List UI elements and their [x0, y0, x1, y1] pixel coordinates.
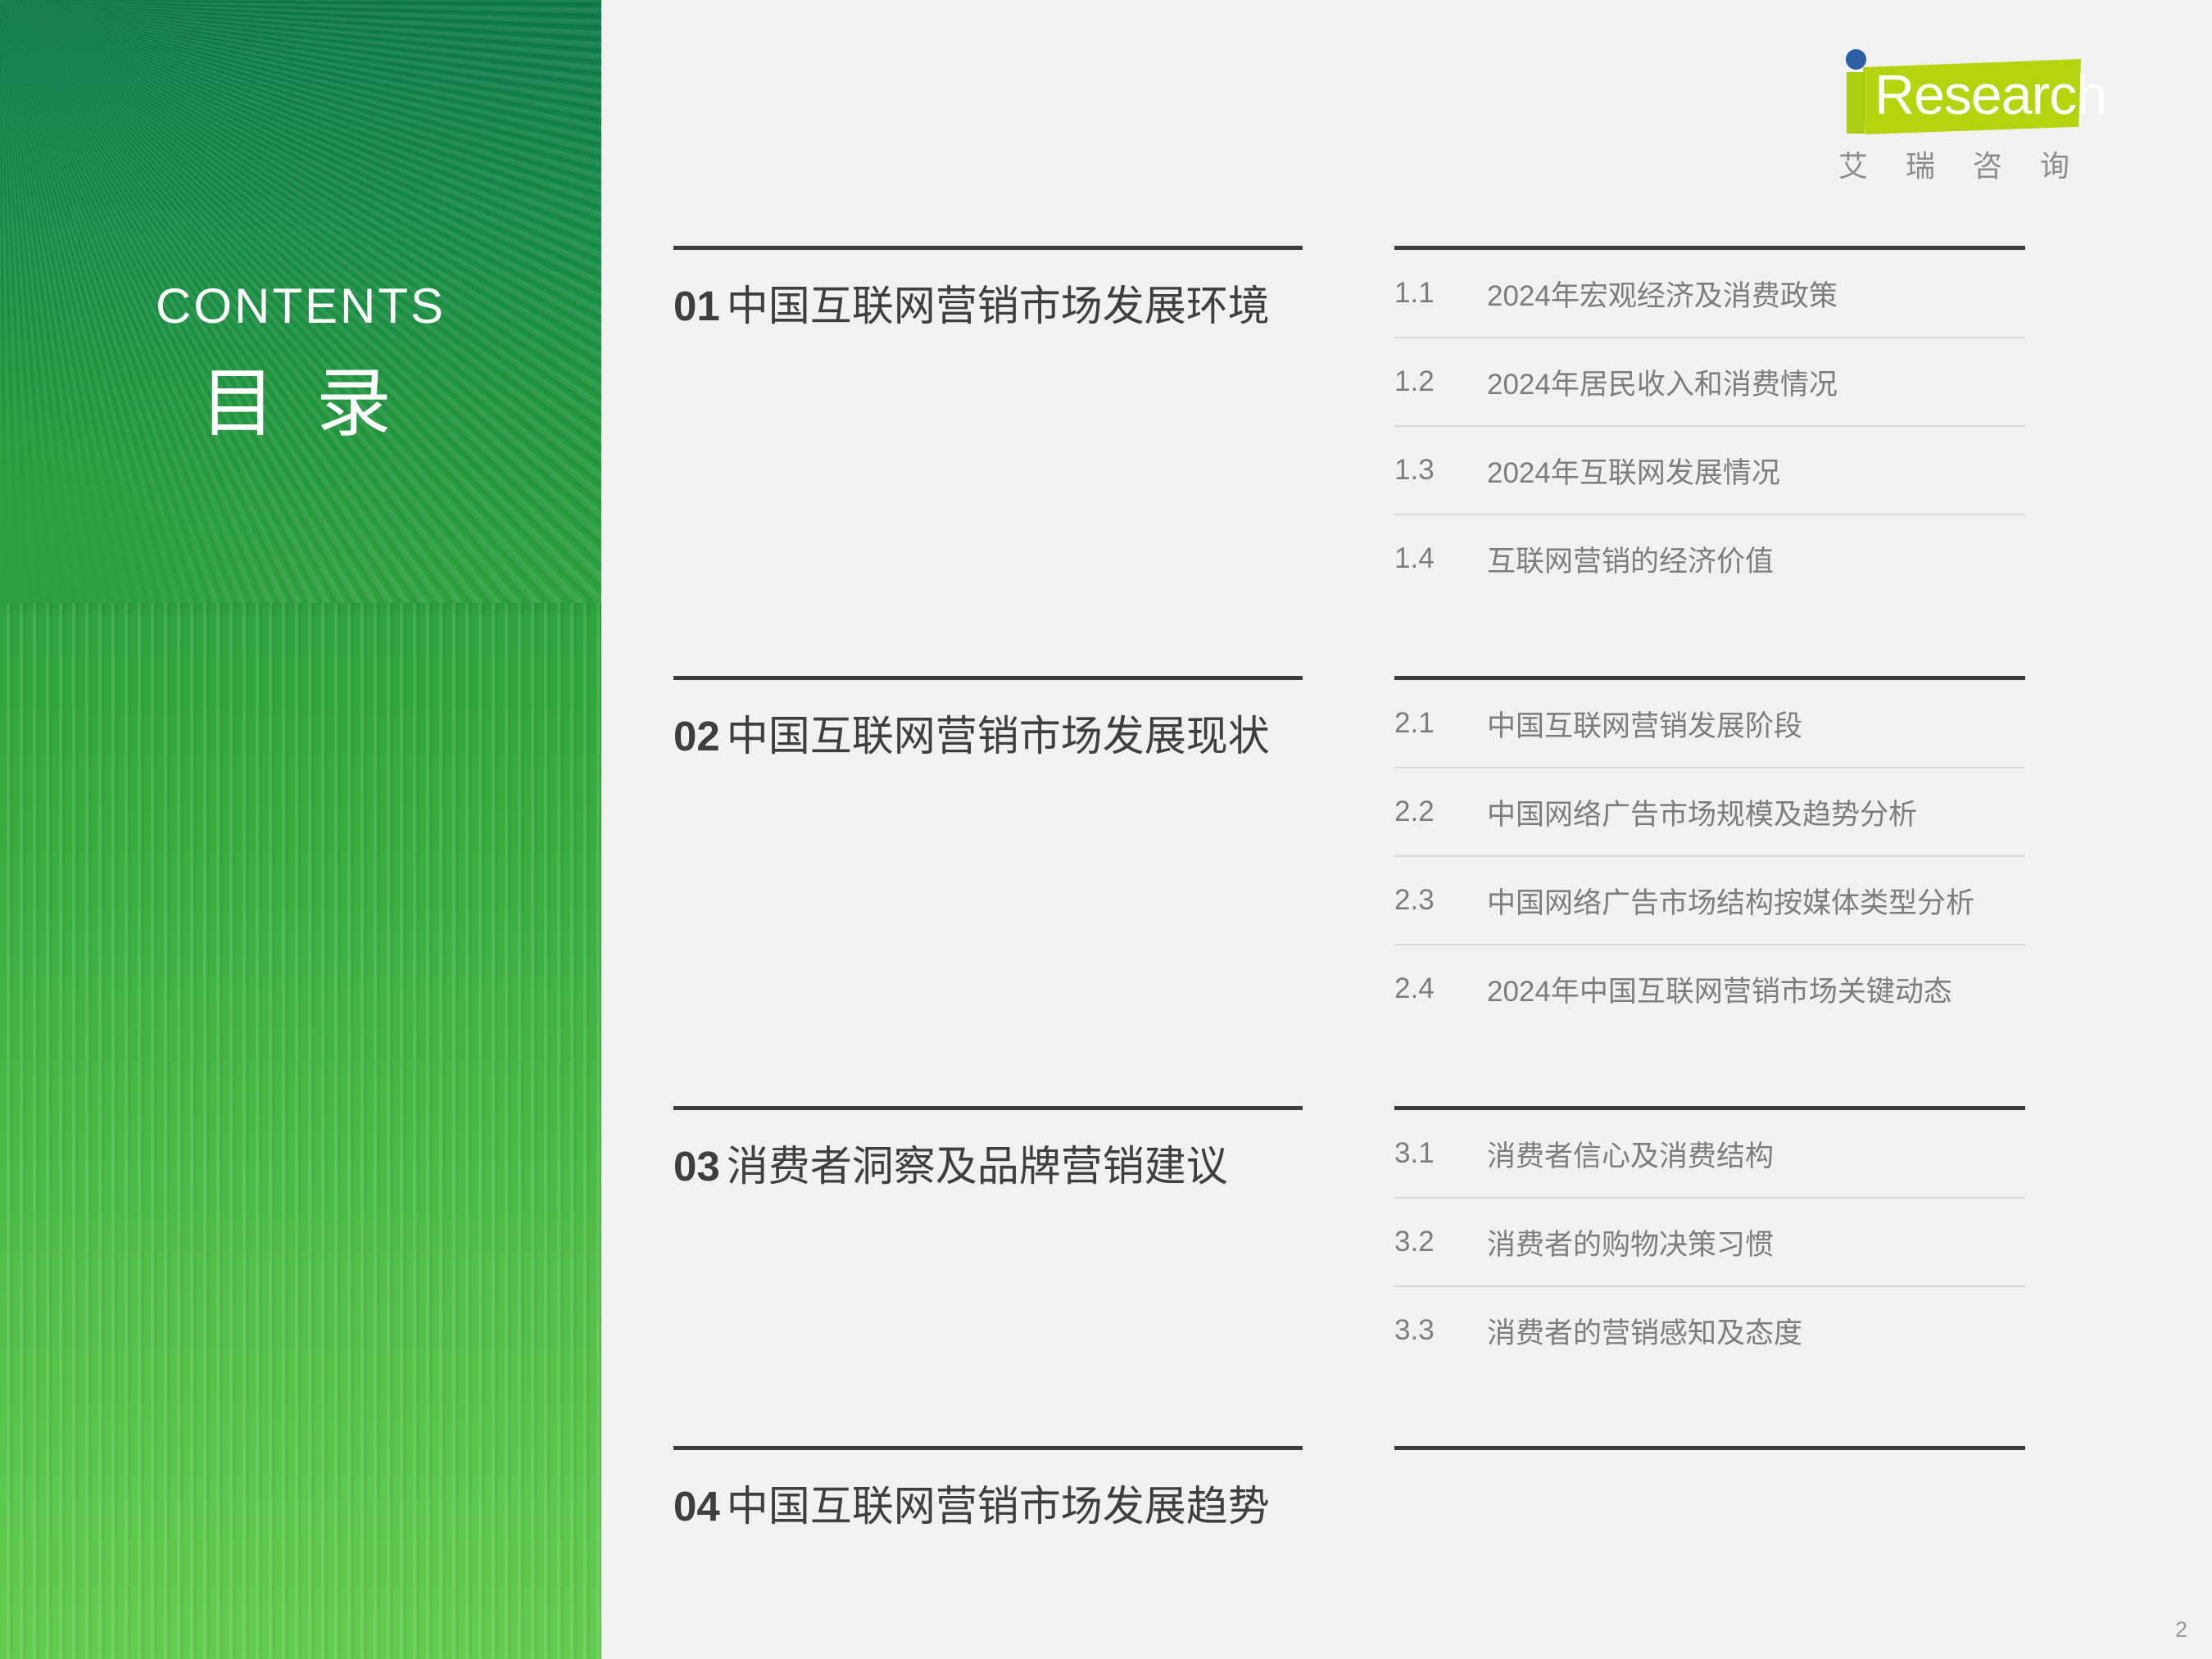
section-number: 01: [673, 283, 720, 329]
page-number: 2: [2175, 1617, 2187, 1643]
toc-sub-item[interactable]: 1.1 2024年宏观经济及消费政策: [1394, 250, 2025, 338]
vertical-stripe-pattern: [0, 603, 601, 1659]
sub-item-label: 中国网络广告市场结构按媒体类型分析: [1487, 880, 2025, 922]
sub-item-label: 互联网营销的经济价值: [1487, 538, 2025, 580]
logo-subtitle-cn: 艾 瑞 咨 询: [1832, 143, 2091, 185]
sub-item-label: 2024年中国互联网营销市场关键动态: [1487, 968, 2025, 1010]
sub-item-label: 消费者的购物决策习惯: [1487, 1222, 2025, 1263]
section-number: 03: [673, 1143, 720, 1190]
section-label: 中国互联网营销市场发展现状: [727, 713, 1270, 759]
logo-letter-i-dot-icon: [1846, 49, 1866, 70]
sub-item-number: 2.4: [1394, 972, 1487, 1005]
toc-sub-item[interactable]: 2.2 中国网络广告市场规模及趋势分析: [1394, 768, 2025, 857]
section-divider-heavy: [673, 246, 1303, 250]
contents-sidebar: CONTENTS 目 录: [0, 0, 601, 1659]
sub-item-list: 3.1 消费者信心及消费结构 3.2 消费者的购物决策习惯 3.3 消费者的营销…: [1394, 1110, 2025, 1374]
toc-sub-item[interactable]: 3.2 消费者的购物决策习惯: [1394, 1199, 2025, 1287]
logo-wordmark: Research: [1874, 67, 2106, 123]
toc-section-04-heading[interactable]: 04中国互联网营销市场发展趋势: [673, 1446, 1303, 1530]
sub-item-label: 消费者的营销感知及态度: [1487, 1310, 2025, 1352]
sub-item-number: 3.1: [1394, 1137, 1487, 1170]
toc-section-01-heading[interactable]: 01中国互联网营销市场发展环境: [673, 246, 1303, 329]
iresearch-logo: Research 艾 瑞 咨 询: [1820, 48, 2091, 187]
sub-item-number: 3.2: [1394, 1226, 1487, 1258]
logo-letter-i-stem: [1847, 72, 1865, 134]
toc-sub-item[interactable]: 3.3 消费者的营销感知及态度: [1394, 1287, 2025, 1374]
sub-item-number: 1.3: [1394, 454, 1487, 487]
toc-sub-item[interactable]: 2.1 中国互联网营销发展阶段: [1394, 680, 2025, 768]
contents-title-cn: 目 录: [0, 366, 601, 442]
toc-sub-item[interactable]: 3.1 消费者信心及消费结构: [1394, 1110, 2025, 1199]
section-divider-heavy: [1394, 1446, 2025, 1450]
section-title: 04中国互联网营销市场发展趋势: [673, 1483, 1303, 1530]
toc-section-04-items: [1394, 1446, 2025, 1450]
section-title: 03消费者洞察及品牌营销建议: [673, 1143, 1303, 1190]
section-divider-heavy: [673, 676, 1303, 680]
sub-item-label: 中国网络广告市场规模及趋势分析: [1487, 791, 2025, 833]
sub-item-number: 2.2: [1394, 796, 1487, 828]
sub-item-number: 2.3: [1394, 884, 1487, 917]
logo-mark: Research: [1820, 48, 2091, 139]
toc-section-03-heading[interactable]: 03消费者洞察及品牌营销建议: [673, 1106, 1303, 1190]
sub-item-label: 2024年宏观经济及消费政策: [1487, 273, 2025, 315]
sub-item-number: 1.2: [1394, 365, 1487, 398]
sub-item-number: 3.3: [1394, 1314, 1487, 1347]
sub-item-number: 1.4: [1394, 542, 1487, 575]
stripe-top-shadow: [0, 603, 601, 619]
section-label: 中国互联网营销市场发展环境: [727, 283, 1270, 329]
section-label: 消费者洞察及品牌营销建议: [727, 1143, 1228, 1190]
sub-item-number: 1.1: [1394, 277, 1487, 310]
sub-item-list: 1.1 2024年宏观经济及消费政策 1.2 2024年居民收入和消费情况 1.…: [1394, 250, 2025, 602]
section-number: 02: [673, 713, 720, 759]
section-title: 02中国互联网营销市场发展现状: [673, 713, 1303, 759]
sub-item-label: 消费者信心及消费结构: [1487, 1133, 2025, 1175]
toc-section-03-items: 3.1 消费者信心及消费结构 3.2 消费者的购物决策习惯 3.3 消费者的营销…: [1394, 1106, 2025, 1374]
sub-item-number: 2.1: [1394, 707, 1487, 740]
section-title: 01中国互联网营销市场发展环境: [673, 283, 1303, 329]
sub-item-label: 2024年居民收入和消费情况: [1487, 361, 2025, 403]
toc-sub-item[interactable]: 2.3 中国网络广告市场结构按媒体类型分析: [1394, 857, 2025, 945]
toc-sub-item[interactable]: 1.3 2024年互联网发展情况: [1394, 427, 2025, 515]
toc-sub-item[interactable]: 2.4 2024年中国互联网营销市场关键动态: [1394, 945, 2025, 1032]
section-number: 04: [673, 1483, 720, 1530]
sub-item-label: 中国互联网营销发展阶段: [1487, 703, 2025, 745]
toc-sub-item[interactable]: 1.2 2024年居民收入和消费情况: [1394, 338, 2025, 427]
table-of-contents: 01中国互联网营销市场发展环境 1.1 2024年宏观经济及消费政策 1.2 2…: [673, 0, 2025, 1659]
section-divider-heavy: [673, 1446, 1303, 1450]
toc-sub-item[interactable]: 1.4 互联网营销的经济价值: [1394, 515, 2025, 602]
section-divider-heavy: [673, 1106, 1303, 1110]
sub-item-label: 2024年互联网发展情况: [1487, 450, 2025, 492]
sub-item-list: 2.1 中国互联网营销发展阶段 2.2 中国网络广告市场规模及趋势分析 2.3 …: [1394, 680, 2025, 1032]
toc-section-02-heading[interactable]: 02中国互联网营销市场发展现状: [673, 676, 1303, 759]
contents-title-en: CONTENTS: [0, 282, 601, 331]
toc-section-01-items: 1.1 2024年宏观经济及消费政策 1.2 2024年居民收入和消费情况 1.…: [1394, 246, 2025, 602]
section-label: 中国互联网营销市场发展趋势: [727, 1483, 1270, 1530]
toc-section-02-items: 2.1 中国互联网营销发展阶段 2.2 中国网络广告市场规模及趋势分析 2.3 …: [1394, 676, 2025, 1032]
